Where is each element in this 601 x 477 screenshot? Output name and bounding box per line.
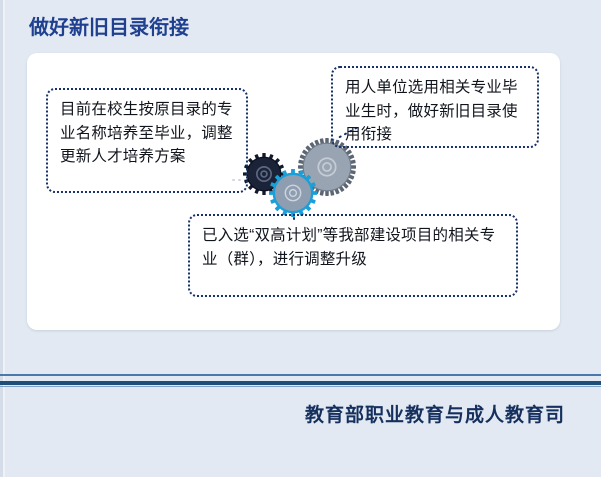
callout-employers: 用人单位选用相关专业毕业生时，做好新旧目录使用衔接	[331, 66, 539, 148]
callout-double-high-plan: 已入选“双高计划”等我部建设项目的相关专业（群），进行调整升级	[188, 214, 518, 297]
slide-canvas: 做好新旧目录衔接	[0, 0, 601, 477]
footer-rule-middle	[0, 381, 601, 385]
page-title: 做好新旧目录衔接	[29, 18, 189, 38]
footer-rule-bottom	[0, 386, 601, 387]
footer-rule-top	[0, 374, 601, 376]
gear-cyan-icon	[269, 169, 317, 217]
footer-organization: 教育部职业教育与成人教育司	[0, 400, 565, 427]
callout-current-students: 目前在校生按原目录的专业名称培养至毕业，调整更新人才培养方案	[46, 88, 248, 193]
